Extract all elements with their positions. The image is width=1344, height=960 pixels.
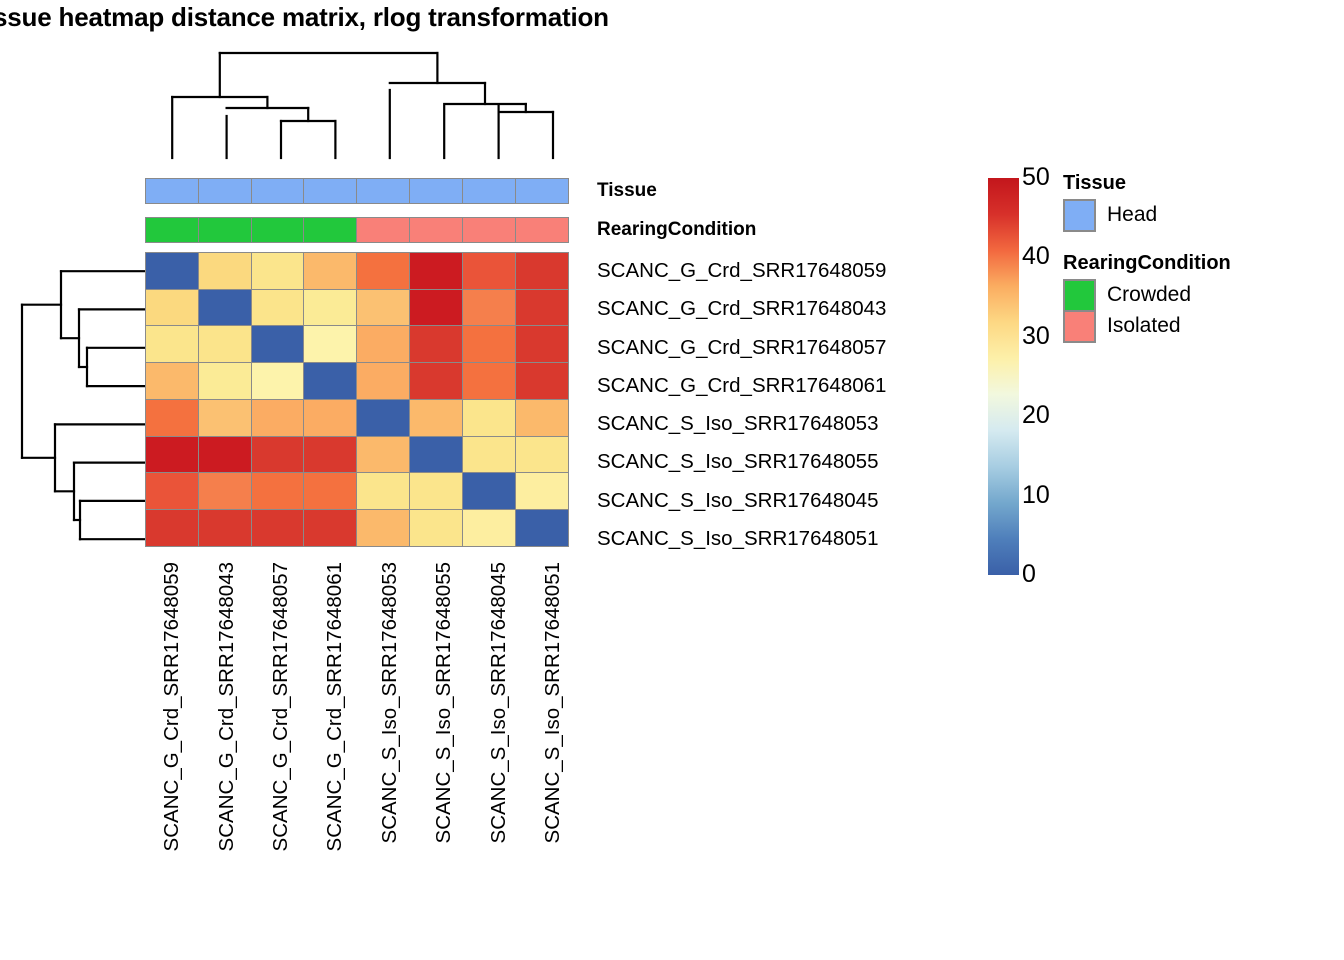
heatmap-cell	[145, 252, 199, 290]
legend-rearing-condition-label: Crowded	[1107, 283, 1191, 307]
heatmap-row	[145, 399, 567, 437]
heatmap-cell	[409, 436, 463, 474]
heatmap-row	[145, 472, 567, 510]
heatmap-column-label-slot: SCANC_G_Crd_SRR17648061	[308, 562, 362, 958]
heatmap-row-label: SCANC_S_Iso_SRR17648055	[597, 443, 886, 481]
heatmap-cell	[356, 325, 410, 363]
heatmap-row	[145, 252, 567, 290]
colorbar-tick-label: 20	[1022, 403, 1050, 428]
heatmap-cell	[251, 509, 305, 547]
heatmap-row	[145, 289, 567, 327]
heatmap-cell	[198, 325, 252, 363]
annotation-cell-tissue	[409, 178, 463, 204]
heatmap-column-label: SCANC_S_Iso_SRR17648051	[541, 562, 565, 843]
heatmap-column-label: SCANC_G_Crd_SRR17648059	[160, 562, 184, 851]
heatmap-column-label-slot: SCANC_S_Iso_SRR17648045	[471, 562, 525, 958]
heatmap-column-label-slot: SCANC_S_Iso_SRR17648055	[417, 562, 471, 958]
colorbar-tick-label: 30	[1022, 324, 1050, 349]
heatmap-row-label: SCANC_S_Iso_SRR17648053	[597, 405, 886, 443]
heatmap-cell	[462, 325, 516, 363]
heatmap-cell	[145, 325, 199, 363]
annotation-cell-rearing-condition	[198, 217, 252, 243]
annotation-cell-rearing-condition	[145, 217, 199, 243]
heatmap-cell	[145, 472, 199, 510]
heatmap-cell	[409, 325, 463, 363]
annotation-cell-tissue	[515, 178, 569, 204]
annotation-cell-tissue	[356, 178, 410, 204]
heatmap-cell	[515, 289, 569, 327]
heatmap-cell	[303, 289, 357, 327]
heatmap-column-label-slot: SCANC_S_Iso_SRR17648051	[526, 562, 580, 958]
heatmap-cell	[409, 509, 463, 547]
annotation-cell-rearing-condition	[462, 217, 516, 243]
annotation-cell-tissue	[145, 178, 199, 204]
heatmap-cell	[303, 399, 357, 437]
legend-tissue-label: Head	[1107, 203, 1157, 227]
heatmap-cell	[303, 362, 357, 400]
heatmap-cell	[251, 289, 305, 327]
legend-rearing-condition-swatch	[1063, 310, 1096, 343]
heatmap-cell	[409, 252, 463, 290]
heatmap-cell	[515, 472, 569, 510]
heatmap-cell	[356, 362, 410, 400]
heatmap-row	[145, 362, 567, 400]
annotation-row-rearing-condition	[145, 217, 567, 243]
heatmap-column-label: SCANC_S_Iso_SRR17648045	[487, 562, 511, 843]
heatmap-column-label: SCANC_S_Iso_SRR17648053	[378, 562, 402, 843]
annotation-cell-rearing-condition	[409, 217, 463, 243]
page-title: issue heatmap distance matrix, rlog tran…	[0, 2, 609, 33]
legend-panel: Tissue Head RearingCondition CrowdedIsol…	[1063, 172, 1333, 341]
heatmap-cell	[198, 289, 252, 327]
legend-rearing-condition-item: Isolated	[1063, 310, 1333, 341]
legend-rearing-condition-item: Crowded	[1063, 279, 1333, 310]
heatmap-cell	[515, 399, 569, 437]
heatmap-cell	[515, 252, 569, 290]
heatmap-column-label: SCANC_G_Crd_SRR17648057	[269, 562, 293, 851]
annotation-cell-tissue	[462, 178, 516, 204]
heatmap-row	[145, 509, 567, 547]
heatmap-cell	[356, 399, 410, 437]
heatmap-column-label-slot: SCANC_G_Crd_SRR17648043	[199, 562, 253, 958]
column-dendrogram	[145, 46, 585, 158]
legend-spacer	[1063, 230, 1333, 252]
heatmap-column-label-slot: SCANC_G_Crd_SRR17648057	[254, 562, 308, 958]
colorbar-tick-label: 10	[1022, 483, 1050, 508]
heatmap-figure: issue heatmap distance matrix, rlog tran…	[0, 0, 1344, 960]
heatmap-row-label: SCANC_G_Crd_SRR17648061	[597, 367, 886, 405]
heatmap-cell	[303, 436, 357, 474]
heatmap-cell	[251, 436, 305, 474]
heatmap-row-label: SCANC_S_Iso_SRR17648051	[597, 520, 886, 558]
heatmap-cell	[198, 436, 252, 474]
heatmap-cell	[303, 325, 357, 363]
heatmap-cell	[356, 289, 410, 327]
legend-rearing-condition-swatch	[1063, 279, 1096, 312]
annotation-cell-rearing-condition	[515, 217, 569, 243]
annotation-cell-tissue	[198, 178, 252, 204]
heatmap-row-label: SCANC_G_Crd_SRR17648043	[597, 290, 886, 328]
heatmap-cell	[145, 399, 199, 437]
heatmap-cell	[198, 362, 252, 400]
legend-rearing-condition-label: Isolated	[1107, 314, 1181, 338]
heatmap-cell	[462, 289, 516, 327]
heatmap-cell	[462, 509, 516, 547]
annotation-cell-rearing-condition	[251, 217, 305, 243]
heatmap-row-labels: SCANC_G_Crd_SRR17648059SCANC_G_Crd_SRR17…	[597, 252, 886, 558]
row-dendrogram	[8, 252, 145, 559]
legend-title-rearing-condition: RearingCondition	[1063, 252, 1333, 275]
heatmap-cell	[145, 509, 199, 547]
legend-title-tissue: Tissue	[1063, 172, 1333, 195]
heatmap-cell	[356, 252, 410, 290]
legend-tissue-swatch	[1063, 199, 1096, 232]
colorbar-gradient	[988, 178, 1019, 575]
heatmap-cell	[251, 325, 305, 363]
heatmap-grid	[145, 252, 567, 546]
heatmap-column-label: SCANC_G_Crd_SRR17648061	[323, 562, 347, 851]
colorbar-tick-label: 0	[1022, 562, 1036, 587]
annotation-label-rearing-condition: RearingCondition	[597, 217, 756, 243]
heatmap-cell	[198, 252, 252, 290]
heatmap-cell	[515, 362, 569, 400]
heatmap-cell	[462, 436, 516, 474]
annotation-cell-tissue	[303, 178, 357, 204]
heatmap-cell	[145, 362, 199, 400]
heatmap-cell	[356, 509, 410, 547]
heatmap-column-label-slot: SCANC_G_Crd_SRR17648059	[145, 562, 199, 958]
heatmap-cell	[515, 325, 569, 363]
colorbar-tick-label: 40	[1022, 244, 1050, 269]
annotation-row-tissue	[145, 178, 567, 204]
legend-tissue-item: Head	[1063, 199, 1333, 230]
heatmap-cell	[198, 399, 252, 437]
heatmap-cell	[145, 289, 199, 327]
heatmap-cell	[198, 509, 252, 547]
annotation-cell-tissue	[251, 178, 305, 204]
heatmap-cell	[409, 472, 463, 510]
heatmap-row-label: SCANC_S_Iso_SRR17648045	[597, 482, 886, 520]
annotation-cell-rearing-condition	[303, 217, 357, 243]
annotation-cell-rearing-condition	[356, 217, 410, 243]
heatmap-cell	[251, 252, 305, 290]
heatmap-cell	[462, 362, 516, 400]
heatmap-cell	[251, 472, 305, 510]
heatmap-cell	[515, 509, 569, 547]
heatmap-cell	[251, 362, 305, 400]
heatmap-column-label: SCANC_S_Iso_SRR17648055	[432, 562, 456, 843]
heatmap-row	[145, 325, 567, 363]
annotation-label-tissue: Tissue	[597, 178, 657, 204]
heatmap-cell	[356, 472, 410, 510]
heatmap-cell	[462, 399, 516, 437]
legend-items-tissue: Head	[1063, 199, 1333, 230]
colorbar-tick-label: 50	[1022, 165, 1050, 190]
heatmap-column-label: SCANC_G_Crd_SRR17648043	[215, 562, 239, 851]
heatmap-cell	[198, 472, 252, 510]
heatmap-cell	[251, 399, 305, 437]
heatmap-column-label-slot: SCANC_S_Iso_SRR17648053	[363, 562, 417, 958]
heatmap-cell	[462, 252, 516, 290]
heatmap-cell	[462, 472, 516, 510]
heatmap-cell	[145, 436, 199, 474]
heatmap-cell	[409, 289, 463, 327]
heatmap-cell	[409, 362, 463, 400]
heatmap-cell	[356, 436, 410, 474]
heatmap-cell	[515, 436, 569, 474]
heatmap-row	[145, 436, 567, 474]
legend-items-rearing-condition: CrowdedIsolated	[1063, 279, 1333, 341]
heatmap-cell	[409, 399, 463, 437]
heatmap-cell	[303, 472, 357, 510]
heatmap-row-label: SCANC_G_Crd_SRR17648057	[597, 329, 886, 367]
heatmap-row-label: SCANC_G_Crd_SRR17648059	[597, 252, 886, 290]
heatmap-cell	[303, 509, 357, 547]
heatmap-cell	[303, 252, 357, 290]
